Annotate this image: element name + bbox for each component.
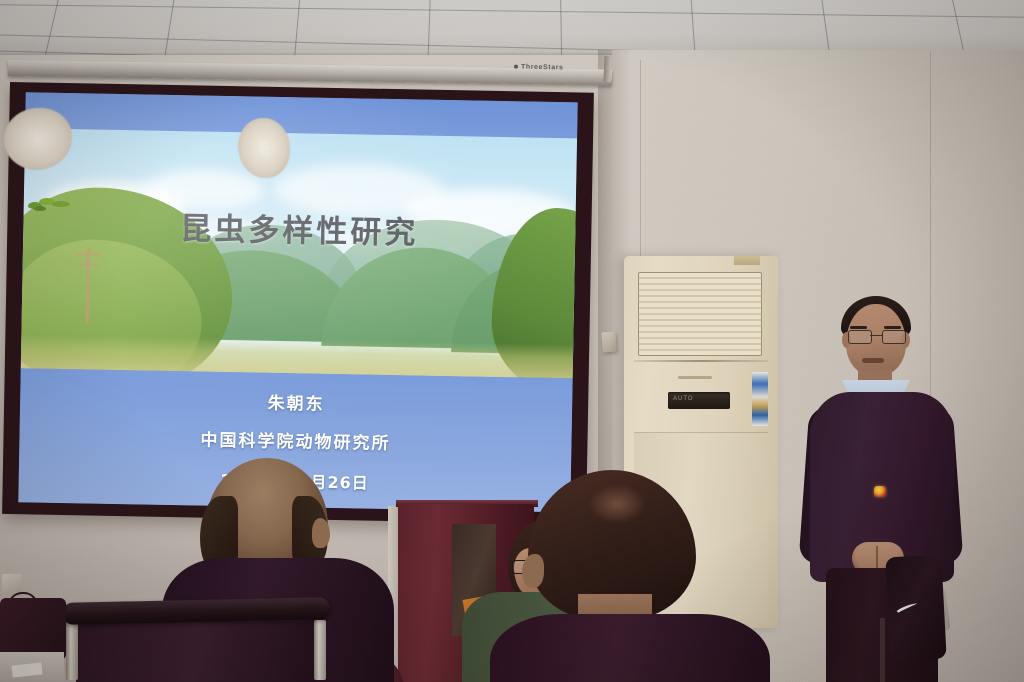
lapel-badge-icon xyxy=(874,486,886,497)
ac-display-text: AUTO xyxy=(673,396,694,402)
presenter-mouth xyxy=(862,358,884,363)
audience-chair[interactable] xyxy=(62,596,330,682)
chair-post-right xyxy=(314,620,326,680)
ac-display-panel[interactable]: AUTO xyxy=(668,392,730,409)
presenter-brow-left xyxy=(850,326,867,329)
audience-a-ear xyxy=(312,518,330,548)
glasses-icon xyxy=(846,330,906,343)
ac-grille xyxy=(638,272,762,356)
swoosh-logo-icon xyxy=(896,600,918,610)
presenter-hand-separation xyxy=(876,546,878,570)
presenter-brow-right xyxy=(884,326,901,329)
ac-vent-slot xyxy=(678,376,712,379)
ac-top-knob xyxy=(734,256,760,265)
decorative-plant xyxy=(28,198,74,210)
audience-member-foreground-right xyxy=(500,470,760,682)
presentation-slide: 昆虫多样性研究 朱朝东 中国科学院动物研究所 2019年10月26日 xyxy=(18,92,577,512)
chair-top-bar xyxy=(62,597,330,625)
chair-post-left xyxy=(66,620,78,680)
chair-backrest xyxy=(76,622,316,682)
wall-switch-icon[interactable] xyxy=(601,332,616,353)
wall-seam-secondary xyxy=(640,60,641,260)
audience-b-shoulders xyxy=(490,614,770,682)
fur-trim-right xyxy=(238,118,290,178)
ac-seam xyxy=(634,360,768,362)
roller-bracket xyxy=(603,56,611,82)
audience-b-ear xyxy=(522,554,544,588)
ac-energy-sticker xyxy=(752,372,768,426)
audience-b-hair-highlight xyxy=(588,484,646,524)
presenter-leg-gap xyxy=(880,618,885,682)
presenter xyxy=(790,288,990,682)
projector-brand-text: ThreeStars xyxy=(521,64,564,72)
projector-brand-label: ThreeStars xyxy=(514,64,564,72)
lecture-hall-photo: ThreeStars xyxy=(0,0,1024,682)
handbag xyxy=(0,598,66,660)
